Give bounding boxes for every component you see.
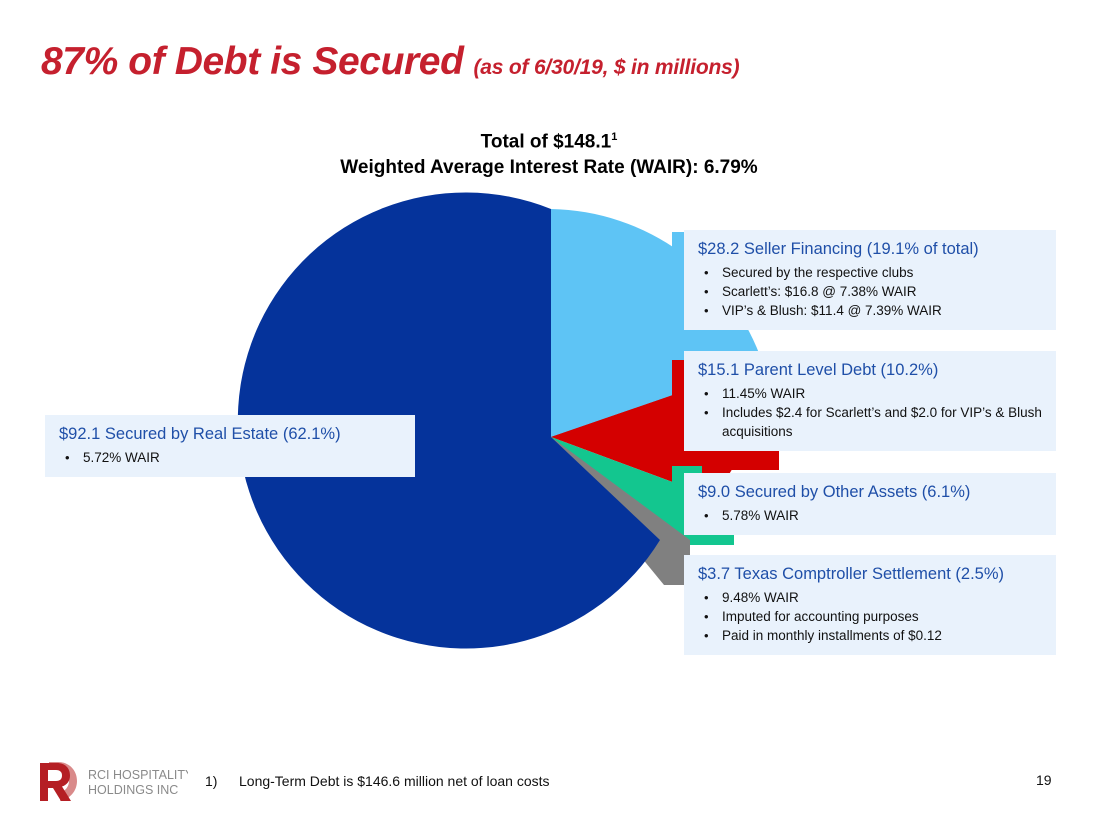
footnote: 1)Long-Term Debt is $146.6 million net o…: [205, 773, 550, 789]
callout-percent: (10.2%): [876, 361, 938, 379]
list-item: 11.45% WAIR: [698, 384, 1044, 403]
list-item: Imputed for accounting purposes: [698, 607, 1044, 626]
callout-bullet-list: Secured by the respective clubs Scarlett…: [698, 263, 1044, 320]
rci-hospitality-logo: RCI HOSPITALITY HOLDINGS INC: [36, 760, 188, 804]
list-item: 9.48% WAIR: [698, 588, 1044, 607]
slide-canvas: 87% of Debt is Secured(as of 6/30/19, $ …: [0, 0, 1098, 822]
list-item: Scarlett’s: $16.8 @ 7.38% WAIR: [698, 282, 1044, 301]
callout-bullet-list: 5.72% WAIR: [59, 448, 403, 467]
callout-texas-settlement: $3.7 Texas Comptroller Settlement (2.5%)…: [684, 555, 1056, 655]
list-item: Secured by the respective clubs: [698, 263, 1044, 282]
list-item: Includes $2.4 for Scarlett’s and $2.0 fo…: [698, 403, 1044, 441]
list-item: 5.72% WAIR: [59, 448, 403, 467]
callout-seller-financing-heading: $28.2 Seller Financing (19.1% of total): [698, 239, 1044, 260]
footnote-number: 1): [205, 773, 239, 789]
callout-name: Texas Comptroller Settlement: [730, 565, 951, 583]
page-number: 19: [1036, 772, 1052, 788]
callout-name: Secured by Other Assets: [730, 483, 917, 501]
callout-value: $28.2: [698, 240, 739, 258]
callout-name: Parent Level Debt: [739, 361, 876, 379]
rci-logo-mark: [40, 762, 77, 801]
callout-other-assets: $9.0 Secured by Other Assets (6.1%) 5.78…: [684, 473, 1056, 535]
callout-other-assets-heading: $9.0 Secured by Other Assets (6.1%): [698, 482, 1044, 503]
callout-parent-level-debt: $15.1 Parent Level Debt (10.2%) 11.45% W…: [684, 351, 1056, 451]
callout-percent: (62.1%): [278, 425, 340, 443]
callout-value: $9.0: [698, 483, 730, 501]
callout-texas-settlement-heading: $3.7 Texas Comptroller Settlement (2.5%): [698, 564, 1044, 585]
callout-percent: (6.1%): [917, 483, 970, 501]
callout-percent: (2.5%): [951, 565, 1004, 583]
callout-bullet-list: 11.45% WAIR Includes $2.4 for Scarlett’s…: [698, 384, 1044, 441]
list-item: Paid in monthly installments of $0.12: [698, 626, 1044, 645]
callout-name: Seller Financing: [739, 240, 862, 258]
callout-name: Secured by Real Estate: [100, 425, 278, 443]
callout-value: $92.1: [59, 425, 100, 443]
logo-text-line2: HOLDINGS INC: [88, 783, 178, 797]
callout-real-estate: $92.1 Secured by Real Estate (62.1%) 5.7…: [45, 415, 415, 477]
logo-text-line1: RCI HOSPITALITY: [88, 768, 188, 782]
callout-percent: (19.1% of total): [862, 240, 978, 258]
callout-bullet-list: 5.78% WAIR: [698, 506, 1044, 525]
callout-value: $15.1: [698, 361, 739, 379]
callout-real-estate-heading: $92.1 Secured by Real Estate (62.1%): [59, 424, 403, 445]
list-item: 5.78% WAIR: [698, 506, 1044, 525]
list-item: VIP’s & Blush: $11.4 @ 7.39% WAIR: [698, 301, 1044, 320]
footnote-text: Long-Term Debt is $146.6 million net of …: [239, 773, 550, 789]
callout-bullet-list: 9.48% WAIR Imputed for accounting purpos…: [698, 588, 1044, 645]
callout-parent-level-debt-heading: $15.1 Parent Level Debt (10.2%): [698, 360, 1044, 381]
callout-seller-financing: $28.2 Seller Financing (19.1% of total) …: [684, 230, 1056, 330]
callout-value: $3.7: [698, 565, 730, 583]
